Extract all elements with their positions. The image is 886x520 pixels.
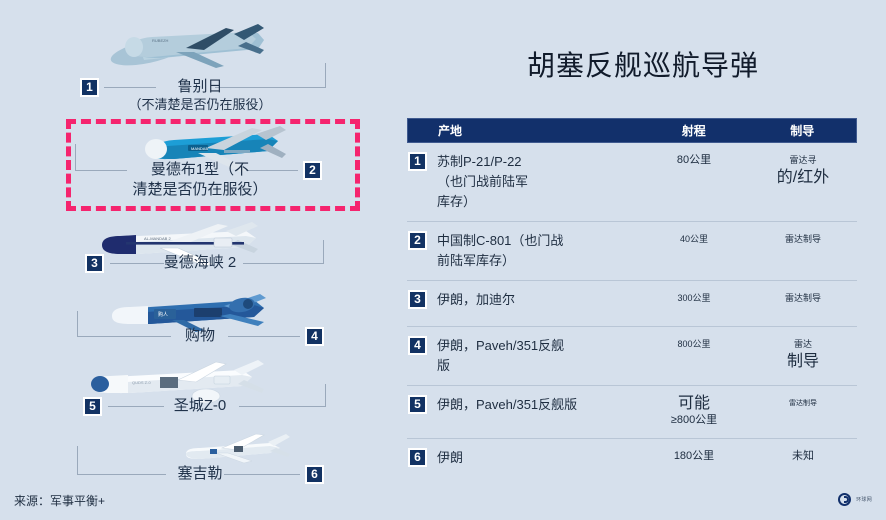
origin-line-1: 伊朗，Paveh/351反舰	[437, 336, 639, 356]
guidance-value: 雷达制导	[749, 395, 857, 412]
origin-line-2: 版	[437, 356, 639, 376]
missile-specs-table: 产地 射程 制导 1 苏制P-21/P-22 （也门战前陆军 库存） 80公里	[407, 118, 857, 485]
row-badge-4: 4	[408, 336, 427, 355]
range-value: 300公里	[639, 290, 749, 307]
source-attribution: 来源：军事平衡+	[14, 492, 105, 509]
origin-cell: 伊朗	[437, 448, 639, 476]
svg-text:AL-MANDAB 2: AL-MANDAB 2	[144, 236, 171, 241]
range-cell: 可能 ≥800公里	[639, 395, 749, 429]
row-number-cell: 5	[407, 395, 437, 429]
guidance-line-2: 的/红外	[749, 169, 857, 186]
range-cell: 800公里	[639, 336, 749, 376]
table-row[interactable]: 5 伊朗，Paveh/351反舰版 可能 ≥800公里 雷达制导	[407, 386, 857, 439]
missile-label-1: 鲁别日	[0, 77, 400, 96]
range-cell: 300公里	[639, 290, 749, 317]
row-badge-2: 2	[408, 231, 427, 250]
table-row[interactable]: 1 苏制P-21/P-22 （也门战前陆军 库存） 80公里 雷达寻 的/红外	[407, 143, 857, 222]
table-header-row: 产地 射程 制导	[407, 118, 857, 143]
origin-line-2: 前陆军库存）	[437, 251, 639, 271]
table-row[interactable]: 6 伊朗 180公里 未知	[407, 439, 857, 485]
guidance-line-1: 雷达	[749, 336, 857, 353]
origin-line-2: （也门战前陆军	[437, 172, 639, 192]
missile-sublabel-1: （不清楚是否仍在服役）	[0, 96, 400, 113]
range-value: 可能	[639, 395, 749, 412]
origin-cell: 伊朗，Paveh/351反舰 版	[437, 336, 639, 376]
missile-label-6: 塞吉勒	[0, 464, 400, 483]
table-row[interactable]: 2 中国制C-801（也门战 前陆军库存） 40公里 雷达制导	[407, 222, 857, 281]
guidance-value: 雷达制导	[749, 290, 857, 307]
range-value-2: ≥800公里	[639, 412, 749, 429]
origin-line-1: 中国制C-801（也门战	[437, 231, 639, 251]
row-number-cell: 1	[407, 152, 437, 212]
origin-line-1: 伊朗，加迪尔	[437, 290, 639, 310]
missile-diagram-panel: RUBEZH 1 鲁别日 （不清楚是否仍在服役） MANDAB	[0, 0, 400, 490]
guidance-line-1: 雷达寻	[749, 152, 857, 169]
guidance-line-2: 制导	[749, 353, 857, 370]
drone-white-icon	[172, 430, 292, 464]
row-number-cell: 6	[407, 448, 437, 476]
globe-logo-icon	[838, 493, 851, 506]
range-cell: 180公里	[639, 448, 749, 476]
missile-label-5: 圣城Z-0	[0, 396, 400, 415]
svg-text:MANDAB: MANDAB	[191, 146, 208, 151]
page-title: 胡塞反舰巡航导弹	[400, 44, 886, 84]
missile-label-3: 曼德海峡 2	[0, 253, 400, 272]
infographic-root: RUBEZH 1 鲁别日 （不清楚是否仍在服役） MANDAB	[0, 0, 886, 520]
missile-label-4: 购物	[0, 326, 400, 345]
svg-text:QUDS Z-0: QUDS Z-0	[132, 380, 151, 385]
guidance-cell: 雷达寻 的/红外	[749, 152, 857, 212]
range-cell: 80公里	[639, 152, 749, 212]
publisher-logo: 环球网	[838, 493, 872, 506]
range-value: 80公里	[639, 152, 749, 169]
origin-cell: 苏制P-21/P-22 （也门战前陆军 库存）	[437, 152, 639, 212]
row-badge-1: 1	[408, 152, 427, 171]
data-table-panel: 胡塞反舰巡航导弹 产地 射程 制导 1 苏制P-21/P-22 （也门战前陆军 …	[400, 0, 886, 520]
table-row[interactable]: 3 伊朗，加迪尔 300公里 雷达制导	[407, 281, 857, 327]
origin-cell: 伊朗，加迪尔	[437, 290, 639, 317]
row-number-cell: 4	[407, 336, 437, 376]
column-header-origin: 产地	[408, 122, 639, 139]
range-value: 180公里	[639, 448, 749, 465]
table-row[interactable]: 4 伊朗，Paveh/351反舰 版 800公里 雷达 制导	[407, 327, 857, 386]
row-badge-3: 3	[408, 290, 427, 309]
row-number-cell: 2	[407, 231, 437, 271]
range-cell: 40公里	[639, 231, 749, 271]
guidance-cell: 未知	[749, 448, 857, 476]
origin-line-1: 伊朗	[437, 448, 639, 468]
row-badge-6: 6	[408, 448, 427, 467]
column-header-range: 射程	[639, 122, 748, 139]
range-value: 800公里	[639, 336, 749, 353]
guidance-cell: 雷达制导	[749, 395, 857, 429]
missile-label-2: 曼德布1型（不	[0, 160, 400, 179]
cruise-missile-lightblue-icon: RUBEZH	[108, 24, 268, 76]
origin-cell: 伊朗，Paveh/351反舰版	[437, 395, 639, 429]
svg-text:RUBEZH: RUBEZH	[152, 38, 169, 43]
missile-label-2b: 清楚是否仍在服役）	[0, 180, 400, 199]
guidance-cell: 雷达 制导	[749, 336, 857, 376]
guidance-value: 雷达制导	[749, 231, 857, 248]
publisher-name: 环球网	[856, 496, 872, 503]
guidance-cell: 雷达制导	[749, 290, 857, 317]
row-badge-5: 5	[408, 395, 427, 414]
row-number-cell: 3	[407, 290, 437, 317]
svg-text:购人: 购人	[158, 311, 168, 318]
origin-line-1: 伊朗，Paveh/351反舰版	[437, 395, 639, 415]
origin-line-1: 苏制P-21/P-22	[437, 152, 639, 172]
range-value: 40公里	[639, 231, 749, 248]
guidance-value: 未知	[749, 448, 857, 465]
column-header-guidance: 制导	[749, 122, 856, 139]
origin-line-3: 库存）	[437, 192, 639, 212]
guidance-cell: 雷达制导	[749, 231, 857, 271]
origin-cell: 中国制C-801（也门战 前陆军库存）	[437, 231, 639, 271]
